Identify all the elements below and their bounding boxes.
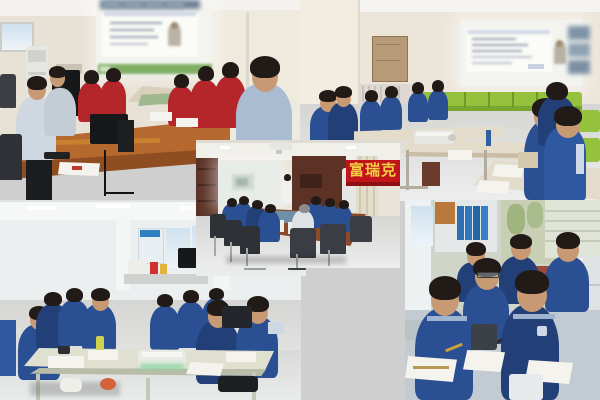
photo-collage: 富瑞克 bbox=[0, 0, 600, 400]
binder bbox=[457, 206, 464, 240]
scene-boardroom-banner: 富瑞克 bbox=[196, 140, 400, 268]
badge bbox=[537, 326, 547, 336]
welcome-banner: 富瑞克 bbox=[346, 160, 400, 182]
laptop bbox=[222, 306, 252, 328]
glasses-icon bbox=[477, 272, 499, 278]
scene-seated-trainees bbox=[405, 200, 600, 400]
video-thumbnail bbox=[568, 26, 590, 40]
notepad bbox=[405, 356, 457, 382]
slide bbox=[102, 10, 198, 56]
collage-tile-bottom-right[interactable] bbox=[405, 200, 600, 400]
ceiling-projector bbox=[270, 142, 292, 150]
document bbox=[186, 362, 224, 376]
notice-board bbox=[372, 36, 408, 82]
presenter bbox=[282, 180, 292, 204]
person bbox=[415, 308, 473, 400]
collage-tile-center[interactable]: 富瑞克 bbox=[196, 140, 400, 268]
